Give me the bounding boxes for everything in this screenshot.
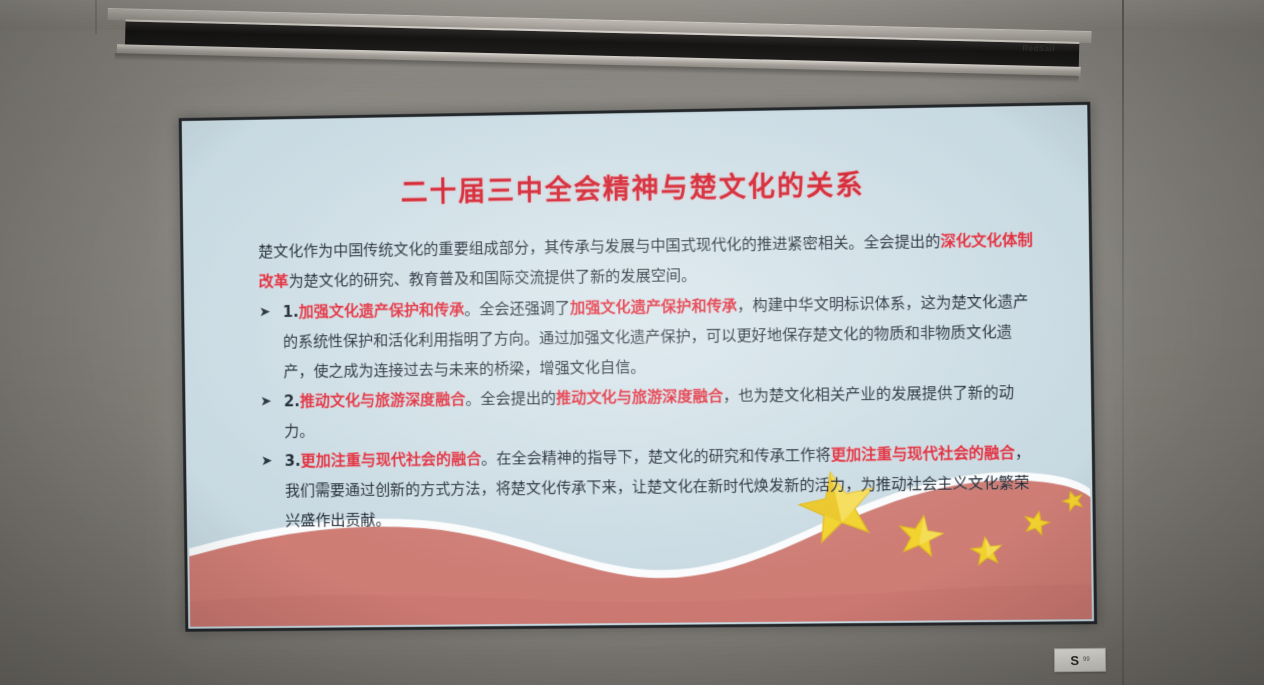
wall-seam-right (1122, 0, 1124, 685)
bullet-item-2: ➤2.推动文化与旅游深度融合。全会提出的推动文化与旅游深度融合，也为楚文化相关产… (260, 377, 1043, 447)
sticker-glyph: S (1070, 654, 1079, 667)
bullet-arrow-icon: ➤ (259, 297, 271, 327)
bullet-3-lead-highlight: 更加注重与现代社会的融合 (301, 450, 482, 470)
bullet-1-number: 1. (283, 303, 299, 321)
bullet-1-lead-highlight: 加强文化遗产保护和传承 (299, 300, 465, 320)
bullet-3-number: 3. (284, 452, 300, 470)
intro-paragraph: 楚文化作为中国传统文化的重要组成部分，其传承与发展与中国式现代化的推进紧密相关。… (258, 225, 1041, 297)
bullet-item-3: ➤3.更加注重与现代社会的融合。在全会精神的指导下，楚文化的研究和传承工作将更加… (261, 437, 1044, 536)
bullet-arrow-icon: ➤ (261, 446, 273, 476)
slide-title: 二十届三中全会精神与楚文化的关系 (184, 159, 1086, 213)
screen-brand-label: RedSail (1022, 44, 1055, 54)
bullet-2-highlight-2: 推动文化与旅游深度融合 (556, 387, 723, 407)
wall-seam-left (95, 0, 97, 34)
slide-canvas: 二十届三中全会精神与楚文化的关系 楚文化作为中国传统文化的重要组成部分，其传承与… (184, 107, 1092, 627)
bullet-item-1: ➤1.加强文化遗产保护和传承。全会还强调了加强文化遗产保护和传承，构建中华文明标… (259, 286, 1042, 387)
sticker-subtext: 99 (1083, 657, 1090, 663)
bullet-2-lead-highlight: 推动文化与旅游深度融合 (300, 390, 466, 410)
slide-frame: 二十届三中全会精神与楚文化的关系 楚文化作为中国传统文化的重要组成部分，其传承与… (179, 102, 1097, 632)
projected-slide[interactable]: 二十届三中全会精神与楚文化的关系 楚文化作为中国传统文化的重要组成部分，其传承与… (179, 102, 1097, 632)
bullet-2-number: 2. (284, 392, 300, 410)
bullet-3-highlight-2: 更加注重与现代社会的融合 (831, 444, 1015, 464)
slide-body: 楚文化作为中国传统文化的重要组成部分，其传承与发展与中国式现代化的推进紧密相关。… (258, 225, 1044, 536)
wall-sticker-label: S 99 (1054, 648, 1106, 673)
bullet-3-seg-1: 。在全会精神的指导下，楚文化的研究和传承工作将 (481, 446, 831, 468)
bullet-arrow-icon: ➤ (260, 387, 272, 417)
bullet-1-seg-1: 。全会还强调了 (464, 299, 570, 318)
classroom-photo-scene: RedSail (0, 0, 1264, 685)
bullet-1-highlight-2: 加强文化遗产保护和传承 (570, 297, 737, 317)
bullet-2-seg-1: 。全会提出的 (465, 389, 556, 408)
intro-seg-1: 楚文化作为中国传统文化的重要组成部分，其传承与发展与中国式现代化的推进紧密相关。… (258, 232, 940, 260)
intro-seg-2: 为楚文化的研究、教育普及和国际交流提供了新的发展空间。 (288, 266, 696, 290)
